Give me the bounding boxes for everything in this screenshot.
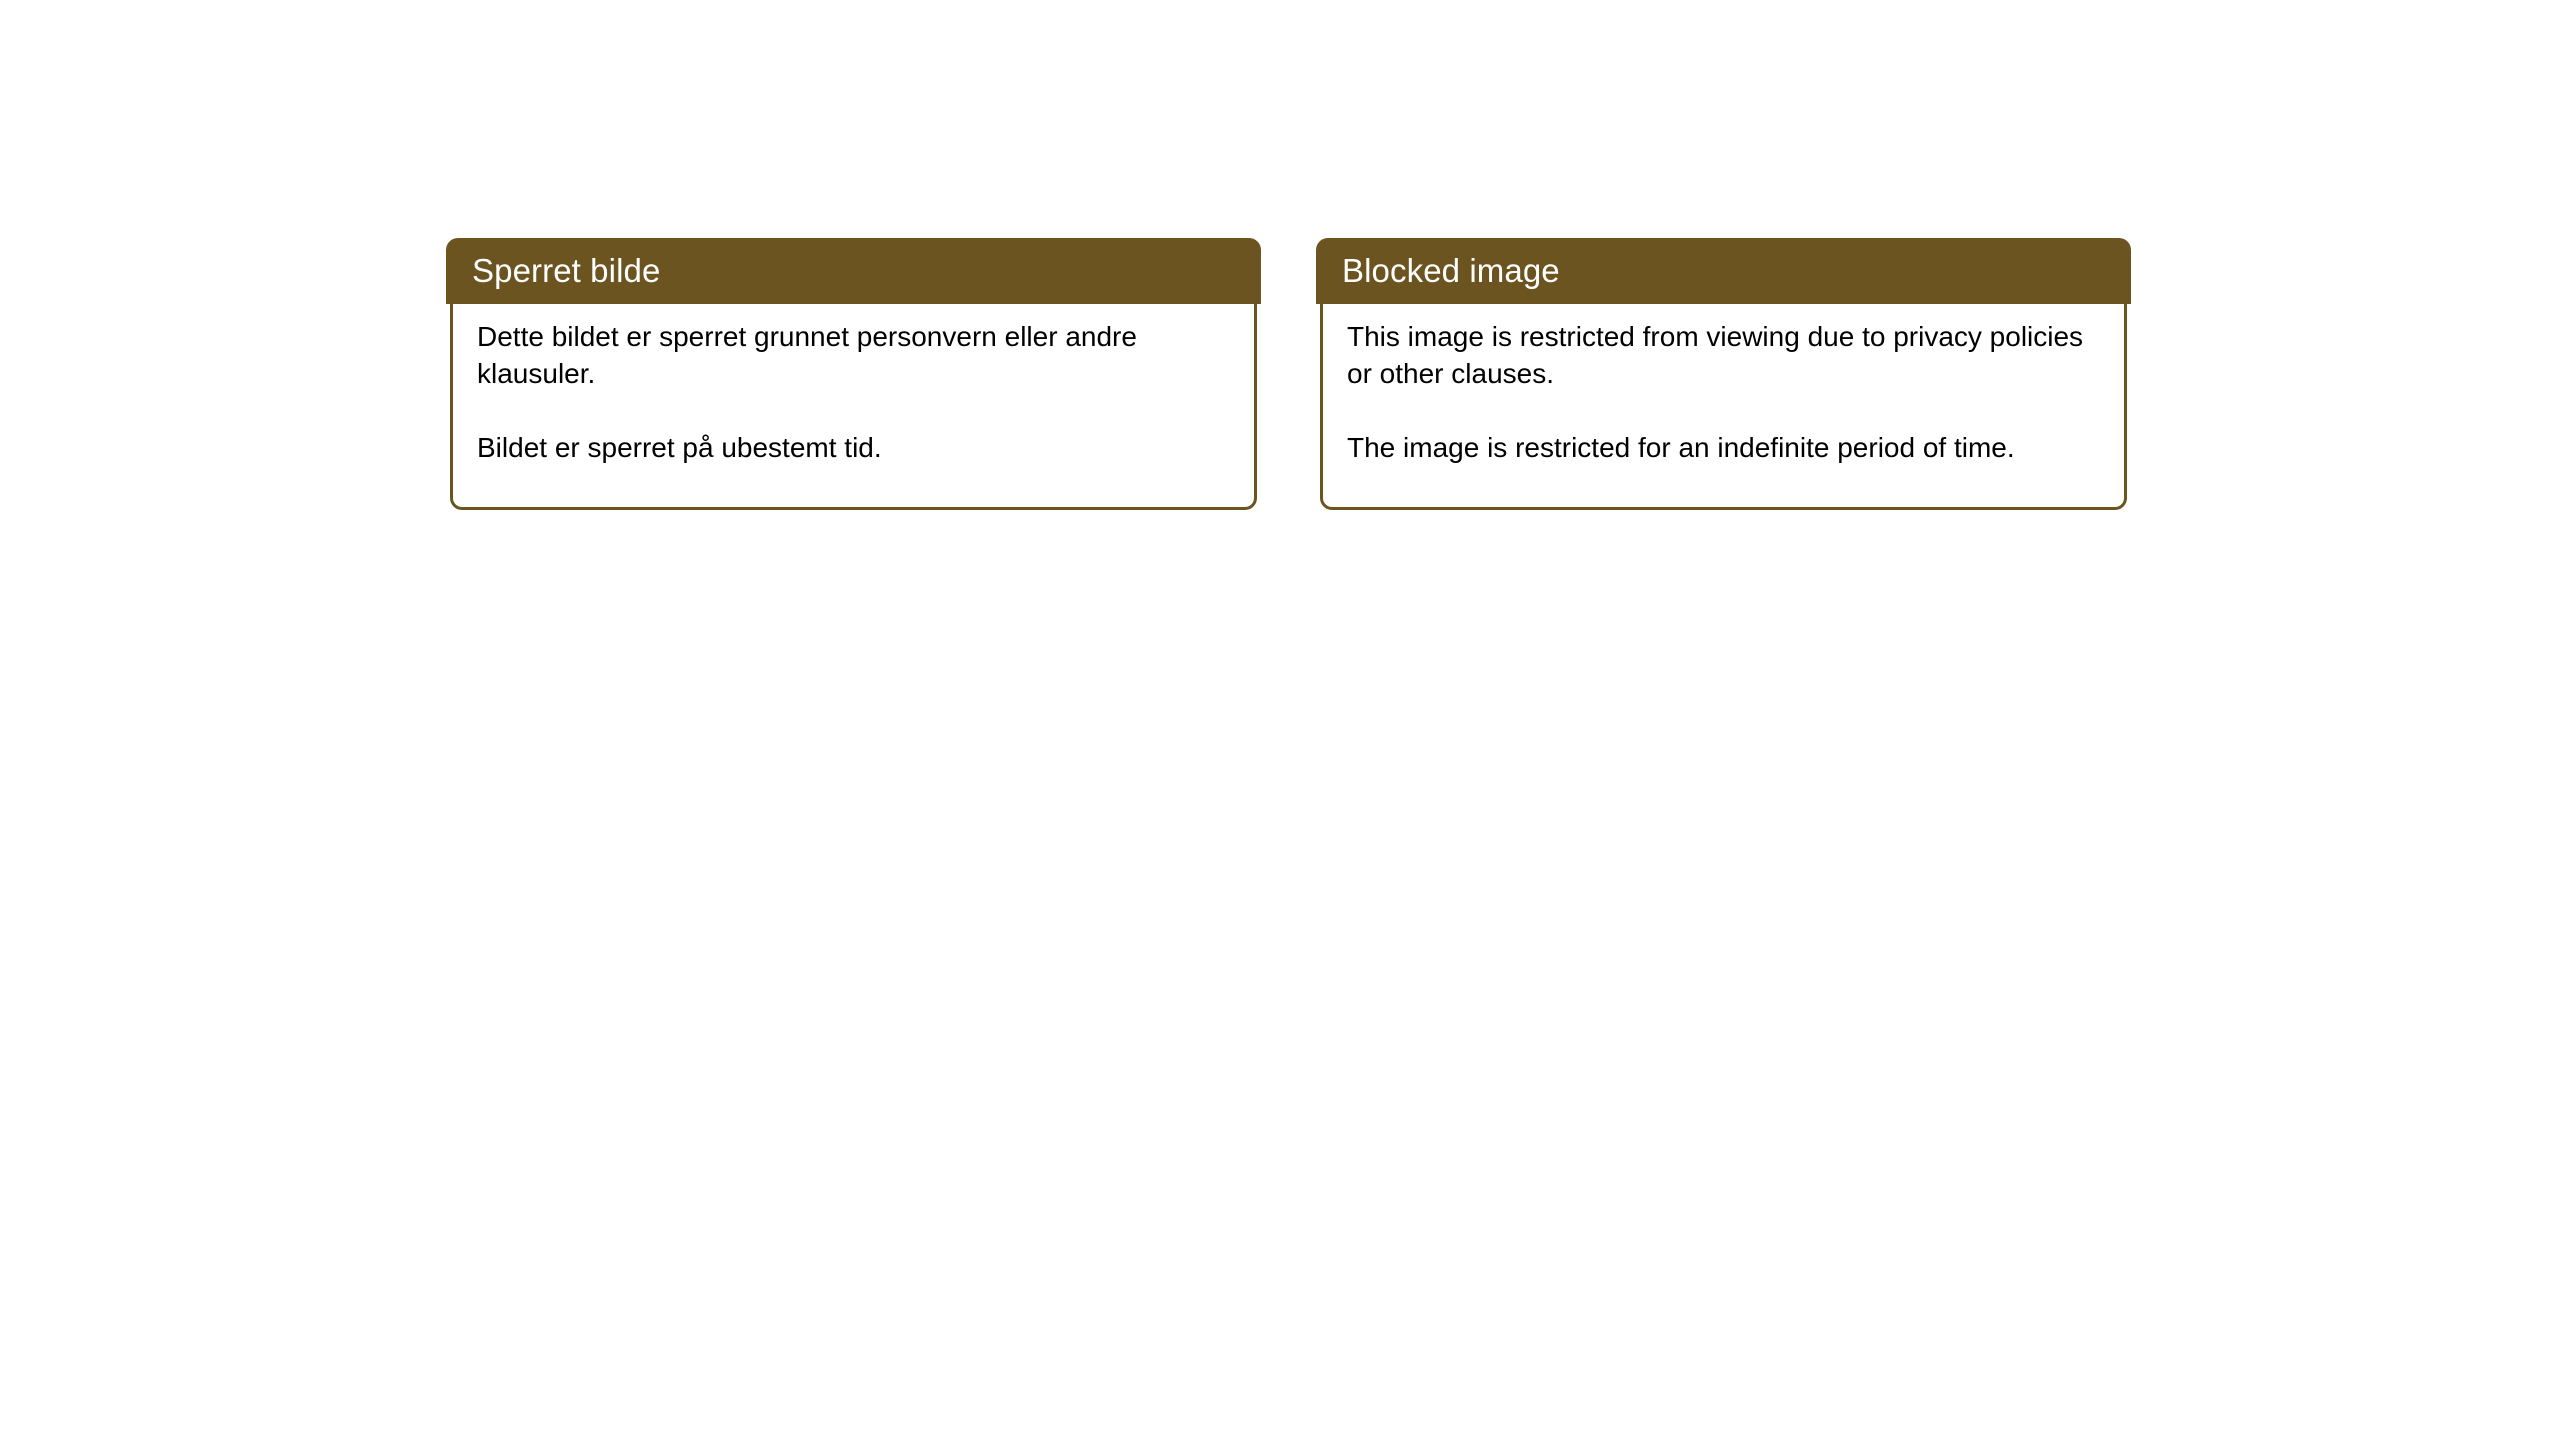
card-title-norwegian: Sperret bilde (472, 253, 660, 289)
card-paragraph-restriction-reason-norwegian: Dette bildet er sperret grunnet personve… (477, 318, 1230, 392)
blocked-image-card-norwegian: Sperret bilde Dette bildet er sperret gr… (446, 238, 1261, 510)
card-title-english: Blocked image (1342, 253, 1560, 289)
page-canvas: Sperret bilde Dette bildet er sperret gr… (0, 0, 2560, 1440)
card-body-norwegian: Dette bildet er sperret grunnet personve… (450, 302, 1257, 510)
blocked-image-notices: Sperret bilde Dette bildet er sperret gr… (446, 238, 2131, 510)
card-header-norwegian: Sperret bilde (446, 238, 1261, 304)
card-paragraph-restriction-duration-english: The image is restricted for an indefinit… (1347, 429, 2100, 466)
card-header-english: Blocked image (1316, 238, 2131, 304)
card-paragraph-restriction-duration-norwegian: Bildet er sperret på ubestemt tid. (477, 429, 1230, 466)
card-paragraph-restriction-reason-english: This image is restricted from viewing du… (1347, 318, 2100, 392)
blocked-image-card-english: Blocked image This image is restricted f… (1316, 238, 2131, 510)
card-body-english: This image is restricted from viewing du… (1320, 302, 2127, 510)
